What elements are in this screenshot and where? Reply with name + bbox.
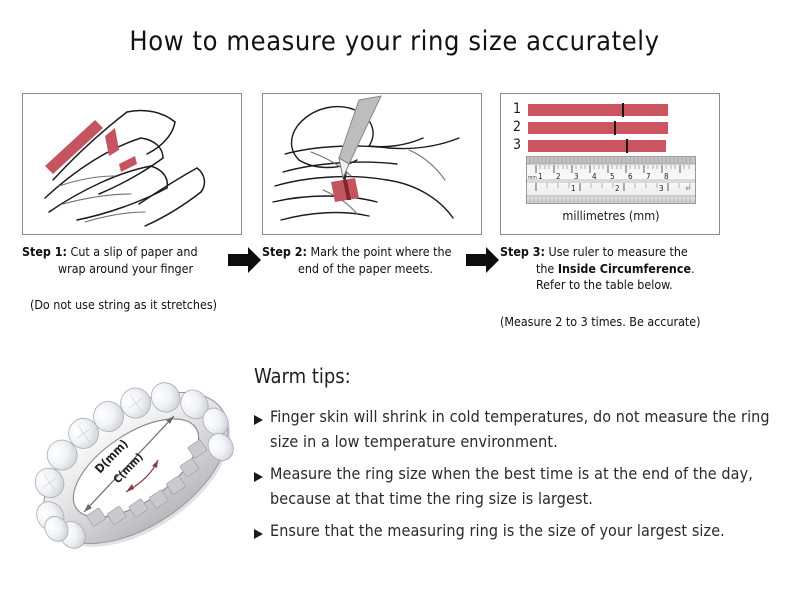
step-1-column: Step 1: Cut a slip of paper and wrap aro… (22, 93, 244, 312)
ruler-inch-tick-3: 3 (659, 184, 664, 193)
step-1-caption-line-2: wrap around your finger (22, 261, 244, 278)
step-3-caption-line-3: Refer to the table below. (500, 277, 722, 294)
steps-row: Step 1: Cut a slip of paper and wrap aro… (0, 93, 789, 343)
triangle-bullet-icon (254, 404, 270, 429)
step-1-illustration-frame (22, 93, 242, 235)
step-3-caption: Step 3: Use ruler to measure the the Ins… (500, 244, 722, 294)
strip-2-bar (528, 122, 668, 134)
strip-2-number: 2 (513, 120, 528, 135)
measured-strip-3: 3 (513, 138, 666, 153)
measured-strip-2: 2 (513, 120, 668, 135)
strip-1-number: 1 (513, 102, 528, 117)
hand-with-paper-strip-icon (23, 94, 241, 234)
eternity-ring-illustration-icon: D(mm) C(mm) (22, 356, 250, 586)
ruler-cm-tick-7: 7 (646, 172, 651, 181)
triangle-bullet-icon (254, 461, 270, 486)
step-1-caption: Step 1: Cut a slip of paper and wrap aro… (22, 244, 244, 277)
paper-strip-shape (331, 178, 359, 202)
strip-3-number: 3 (513, 138, 528, 153)
measured-strip-1: 1 (513, 102, 668, 117)
tip-text: Finger skin will shrink in cold temperat… (270, 404, 774, 454)
ruler-inch-unit: in (686, 186, 690, 192)
strip-1-bar (528, 104, 668, 116)
step-1-note: (Do not use string as it stretches) (22, 297, 244, 312)
ruler-caption: millimetres (mm) (526, 208, 696, 223)
step-3-label: Step 3: (500, 244, 545, 259)
ruler-graphic: 1 2 3 4 5 6 7 8 mm 1 2 3 (526, 156, 696, 204)
ruler-inch-tick-1: 1 (571, 184, 576, 193)
step-2-column: Step 2: Mark the point where the end of … (262, 93, 484, 297)
warm-tips-heading: Warm tips: (254, 364, 774, 388)
tip-text: Measure the ring size when the best time… (270, 461, 774, 511)
step-2-caption-line-1: Mark the point where the (311, 244, 452, 259)
ruler-cm-tick-3: 3 (574, 172, 579, 181)
tip-item: Ensure that the measuring ring is the si… (254, 518, 774, 543)
ruler-cm-tick-1: 1 (538, 172, 543, 181)
ruler-mm-unit: mm (528, 175, 537, 181)
step-2-illustration-frame (262, 93, 482, 235)
step-3-column: 1 2 3 (500, 93, 722, 329)
step-3-inside-circumference-emphasis: Inside Circumference (558, 261, 691, 276)
ruler-cm-tick-4: 4 (592, 172, 597, 181)
ruler-cm-tick-6: 6 (628, 172, 633, 181)
step-3-caption-prefix: the (536, 261, 558, 276)
ring-diagram: D(mm) C(mm) (22, 356, 250, 586)
step-3-note: (Measure 2 to 3 times. Be accurate) (500, 314, 722, 329)
step-3-caption-suffix: . (691, 261, 695, 276)
step-3-illustration-frame: 1 2 3 (500, 93, 720, 235)
ruler-cm-tick-8: 8 (664, 172, 669, 181)
pen-shape (339, 96, 381, 186)
strip-3-bar (528, 140, 666, 152)
warm-tips-section: Warm tips: Finger skin will shrink in co… (254, 364, 774, 550)
hand-marking-paper-with-pen-icon (263, 94, 481, 234)
tip-item: Measure the ring size when the best time… (254, 461, 774, 511)
step-3-caption-line-1: Use ruler to measure the (549, 244, 688, 259)
step-2-label: Step 2: (262, 244, 307, 259)
triangle-bullet-icon (254, 518, 270, 543)
step-2-caption-line-2: end of the paper meets. (262, 261, 484, 278)
ruler-cm-tick-2: 2 (556, 172, 561, 181)
tip-item: Finger skin will shrink in cold temperat… (254, 404, 774, 454)
step-2-caption: Step 2: Mark the point where the end of … (262, 244, 484, 277)
step-3-caption-line-2: the Inside Circumference. (500, 261, 722, 278)
tip-text: Ensure that the measuring ring is the si… (270, 518, 725, 543)
step-1-label: Step 1: (22, 244, 67, 259)
ruler-inch-tick-2: 2 (615, 184, 620, 193)
page-title: How to measure your ring size accurately (0, 26, 789, 57)
step-1-caption-line-1: Cut a slip of paper and (71, 244, 198, 259)
ruler-cm-tick-5: 5 (610, 172, 615, 181)
paper-strip-shape (45, 120, 137, 174)
